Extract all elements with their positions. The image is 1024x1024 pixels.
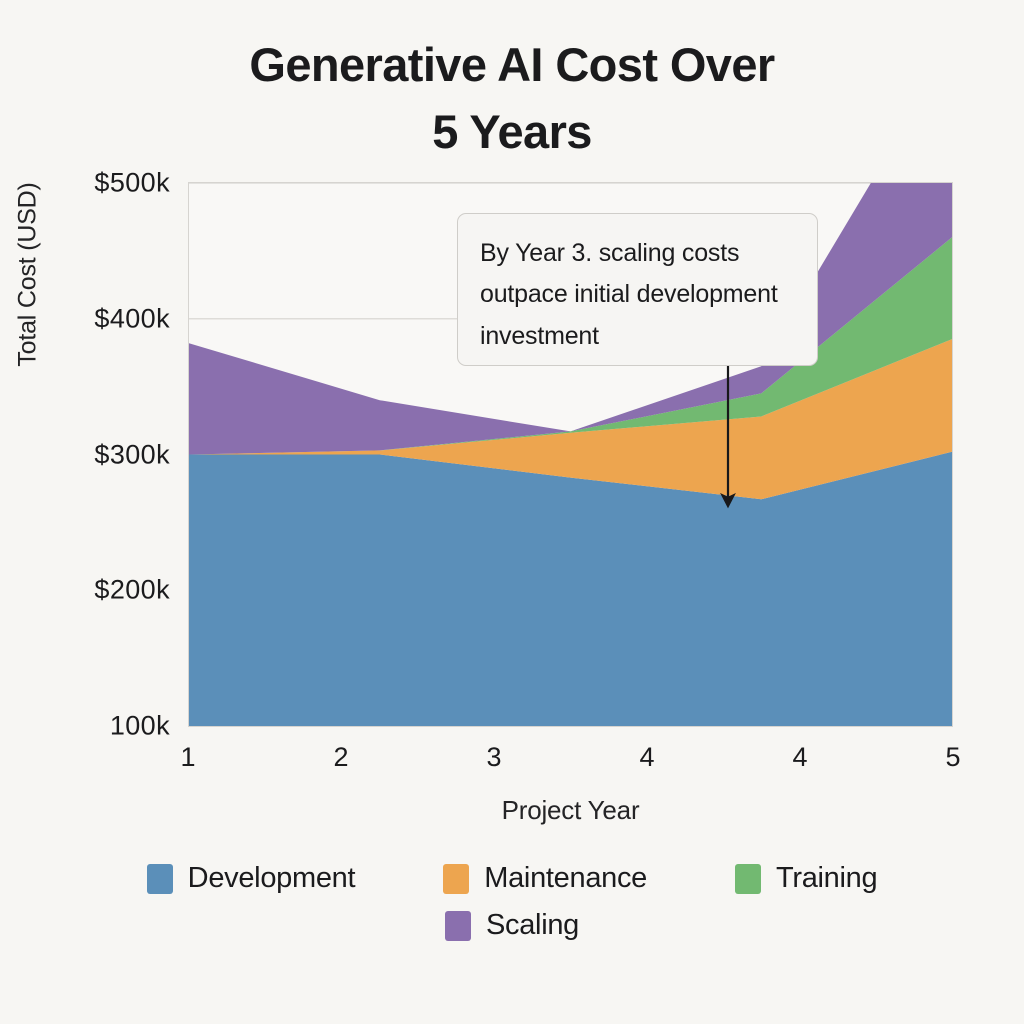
legend-label: Maintenance [484,862,647,895]
x-axis-title: Project Year [188,795,953,826]
chart-figure: Generative AI Cost Over 5 Years Total Co… [0,0,1024,1024]
y-axis-tick-label: $200k [50,575,170,606]
legend-swatch-icon [147,864,173,894]
legend-item-training[interactable]: Training [735,862,877,895]
legend-item-scaling[interactable]: Scaling [445,909,579,942]
y-axis-tick-label: 100k [50,711,170,742]
legend-label: Scaling [486,909,579,942]
annotation-text: By Year 3. scaling costs outpace initial… [480,239,778,350]
annotation-callout: By Year 3. scaling costs outpace initial… [457,213,818,366]
legend-label: Training [776,862,877,895]
x-axis-tick-label: 2 [301,742,381,773]
area-series-development [189,452,952,726]
x-axis-tick-label: 4 [760,742,840,773]
annotation-arrow-icon [700,360,760,520]
x-axis-tick-label: 3 [454,742,534,773]
legend-swatch-icon [735,864,761,894]
legend-row-primary: DevelopmentMaintenanceTraining [0,862,1024,895]
legend-item-maintenance[interactable]: Maintenance [443,862,647,895]
y-axis-title: Total Cost (USD) [14,165,43,385]
legend-row-secondary: Scaling [0,909,1024,942]
x-axis-tick-label: 4 [607,742,687,773]
y-axis-tick-label: $400k [50,303,170,334]
legend-swatch-icon [445,911,471,941]
legend-label: Development [188,862,356,895]
chart-legend: DevelopmentMaintenanceTraining Scaling [0,862,1024,942]
y-axis-tick-label: $500k [50,168,170,199]
y-axis-tick-label: $300k [50,439,170,470]
legend-swatch-icon [443,864,469,894]
x-axis-tick-label: 5 [913,742,993,773]
legend-item-development[interactable]: Development [147,862,356,895]
x-axis-tick-label: 1 [148,742,228,773]
